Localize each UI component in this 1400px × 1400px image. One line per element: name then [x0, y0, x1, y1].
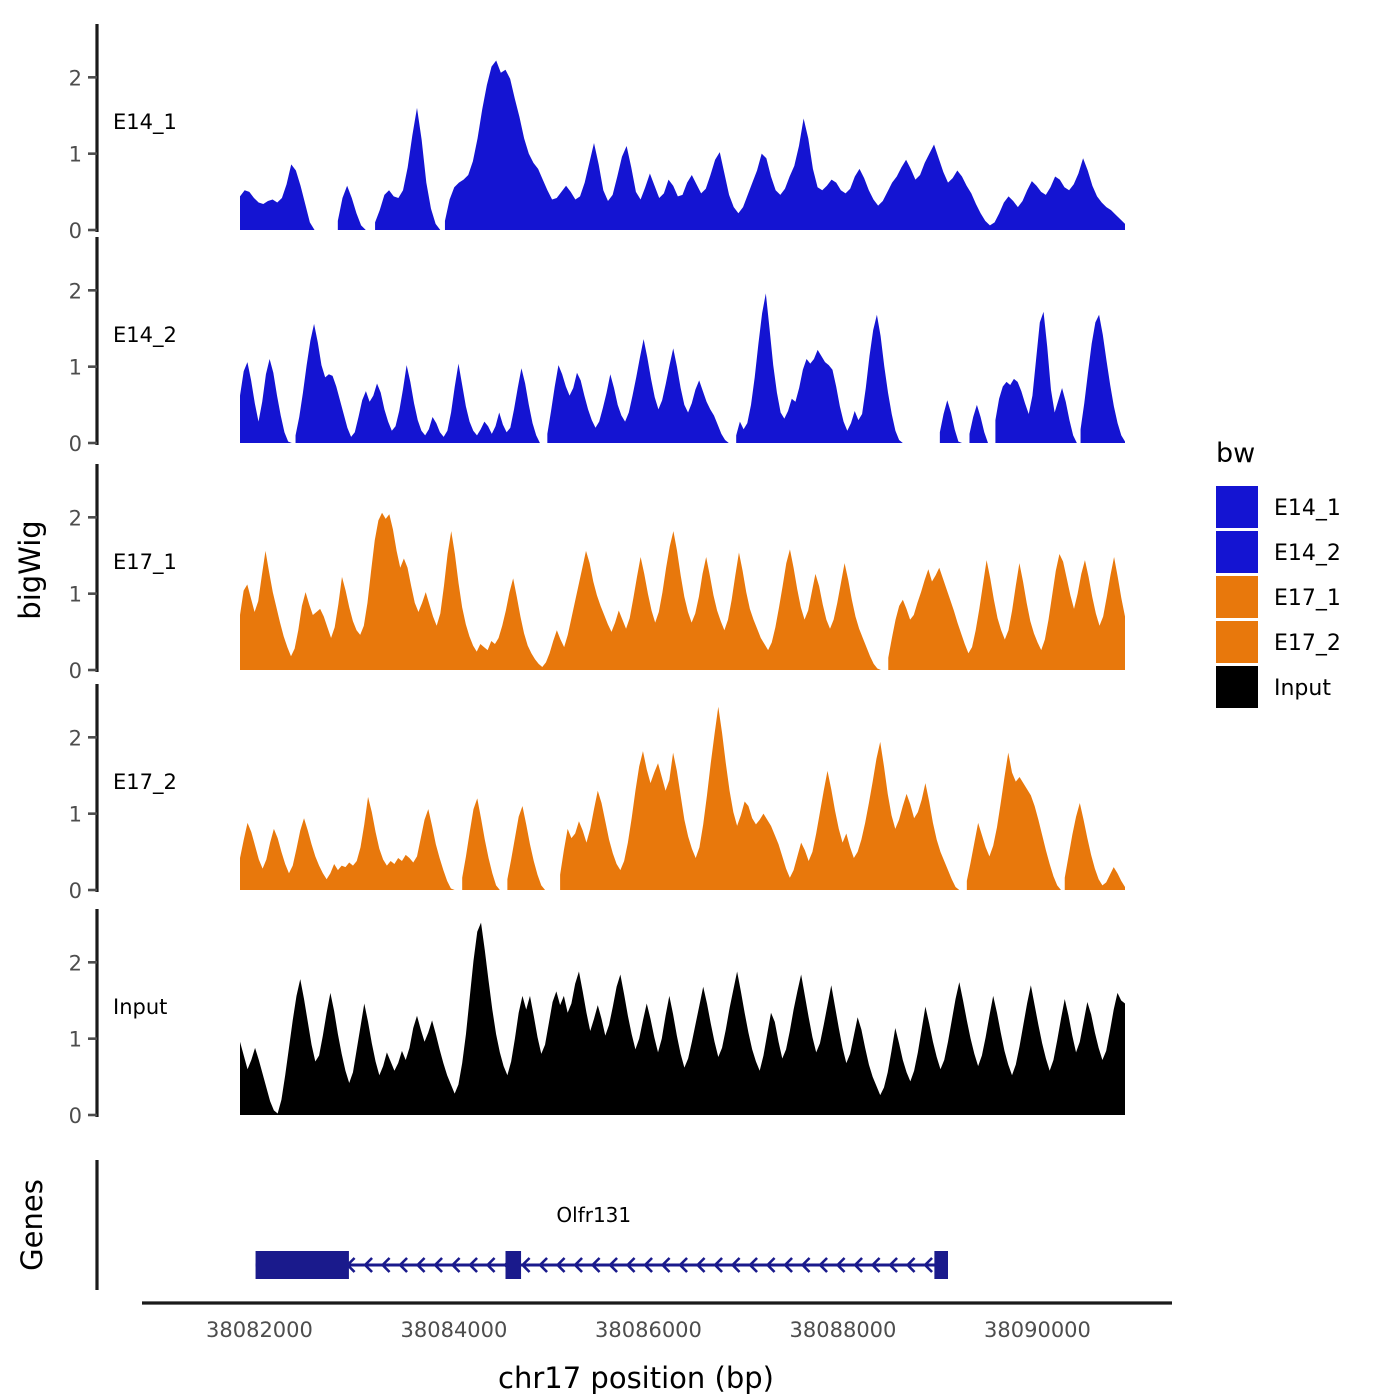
legend-label-Input: Input [1274, 676, 1331, 701]
y-tick-label: 0 [69, 659, 82, 683]
x-axis-title: chr17 position (bp) [498, 1361, 774, 1395]
y-tick-label: 2 [69, 66, 82, 90]
x-tick-label: 38082000 [206, 1318, 313, 1342]
y-tick-label: 1 [69, 803, 82, 827]
x-tick-label: 38090000 [984, 1318, 1091, 1342]
bigwig-genome-browser-figure: bigWig Genes chr17 position (bp) 012E14_… [0, 0, 1400, 1400]
y-tick-label: 1 [69, 356, 82, 380]
y-tick-label: 2 [69, 506, 82, 530]
legend-label-E17_2: E17_2 [1274, 631, 1341, 656]
legend-title: bw [1216, 438, 1255, 469]
legend-swatch-E17_2 [1216, 621, 1258, 663]
gene-exon-block [256, 1251, 349, 1279]
x-tick-label: 38086000 [595, 1318, 702, 1342]
track-label-E17_1: E17_1 [113, 550, 177, 575]
y-tick-label: 0 [69, 1104, 82, 1128]
gene-exon-block [934, 1251, 948, 1279]
x-tick-label: 38088000 [790, 1318, 897, 1342]
y-tick-label: 0 [69, 432, 82, 456]
y-tick-label: 2 [69, 726, 82, 750]
x-tick-label: 38084000 [401, 1318, 508, 1342]
legend-swatch-E17_1 [1216, 576, 1258, 618]
y-tick-label: 0 [69, 219, 82, 243]
legend-swatch-Input [1216, 666, 1258, 708]
legend-label-E17_1: E17_1 [1274, 586, 1341, 611]
legend-swatch-E14_2 [1216, 531, 1258, 573]
y-tick-label: 2 [69, 951, 82, 975]
legend-swatch-E14_1 [1216, 486, 1258, 528]
track-label-E14_1: E14_1 [113, 110, 177, 135]
track-label-E14_2: E14_2 [113, 323, 177, 348]
figure-canvas: bigWig Genes chr17 position (bp) 012E14_… [0, 0, 1400, 1400]
y-tick-label: 1 [69, 1028, 82, 1052]
y-tick-label: 1 [69, 143, 82, 167]
y-tick-label: 2 [69, 279, 82, 303]
y-tick-label: 1 [69, 583, 82, 607]
track-label-E17_2: E17_2 [113, 770, 177, 795]
gene-name-label: Olfr131 [556, 1203, 631, 1227]
gene-exon-block [506, 1251, 522, 1279]
genes-axis-title: Genes [15, 1179, 49, 1271]
y-axis-title: bigWig [13, 520, 47, 619]
y-tick-label: 0 [69, 879, 82, 903]
legend-label-E14_2: E14_2 [1274, 541, 1341, 566]
track-label-Input: Input [113, 995, 167, 1019]
legend-label-E14_1: E14_1 [1274, 496, 1341, 521]
